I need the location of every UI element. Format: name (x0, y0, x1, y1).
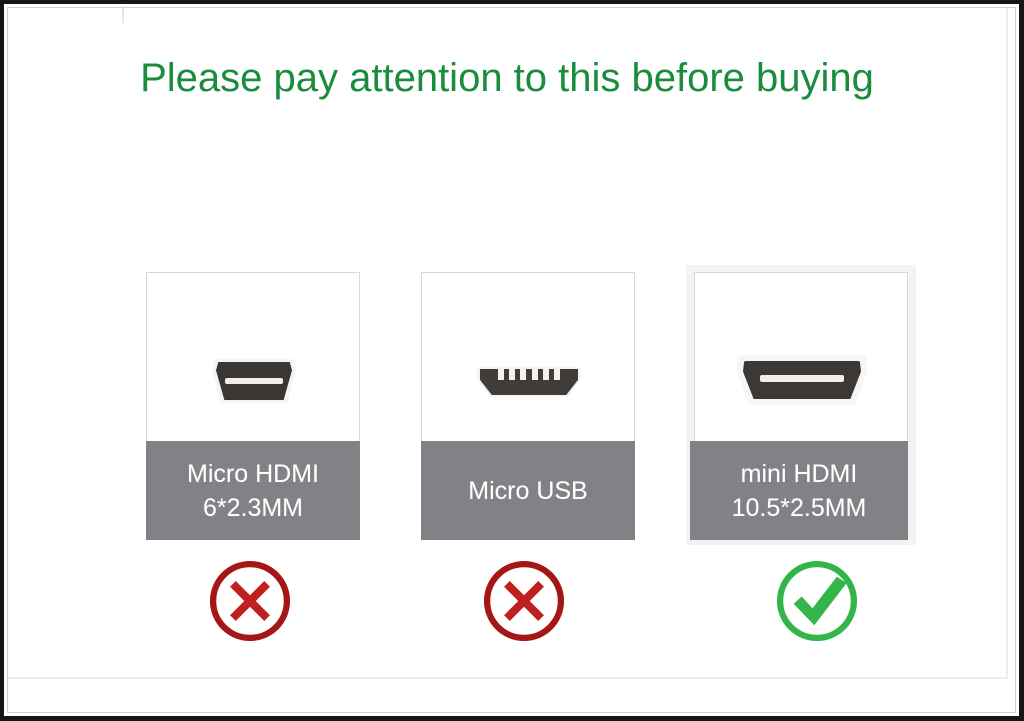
connector-size: 10.5*2.5MM (732, 491, 867, 525)
cross-circle-icon (479, 556, 569, 646)
connector-name: mini HDMI (741, 457, 858, 491)
product-info-image: Please pay attention to this before buyi… (0, 0, 1024, 721)
top-edge-tick-mark (122, 6, 124, 23)
usb-pin (509, 369, 515, 380)
usb-pin (520, 369, 526, 380)
check-circle-icon (772, 556, 862, 646)
mini-hdmi-connector-icon (695, 355, 909, 405)
connector-name: Micro USB (468, 474, 587, 508)
connector-panels: Micro HDMI 6*2.3MM (0, 272, 1024, 542)
usb-pin (498, 369, 504, 380)
connector-label-bar: mini HDMI 10.5*2.5MM (690, 441, 908, 540)
page-title-text: Please pay attention to this before buyi… (140, 53, 874, 103)
verdict-marks (0, 556, 1024, 646)
connector-size: 6*2.3MM (203, 491, 303, 525)
usb-pin (543, 369, 549, 380)
connector-panel-micro-hdmi: Micro HDMI 6*2.3MM (146, 272, 360, 540)
connector-panel-micro-usb: Micro USB (421, 272, 635, 540)
connector-panel-mini-hdmi: mini HDMI 10.5*2.5MM (694, 272, 908, 540)
page-title: Please pay attention to this before buyi… (0, 53, 1024, 103)
micro-usb-connector-icon (422, 367, 636, 397)
usb-pin (554, 369, 560, 380)
connector-label-bar: Micro HDMI 6*2.3MM (146, 441, 360, 540)
connector-image-card (421, 272, 635, 442)
usb-pin (532, 369, 538, 380)
micro-hdmi-connector-icon (147, 359, 361, 403)
connector-label-bar: Micro USB (421, 441, 635, 540)
cross-circle-icon (205, 556, 295, 646)
connector-name: Micro HDMI (187, 457, 319, 491)
connector-image-card (694, 272, 908, 442)
connector-image-card (146, 272, 360, 442)
